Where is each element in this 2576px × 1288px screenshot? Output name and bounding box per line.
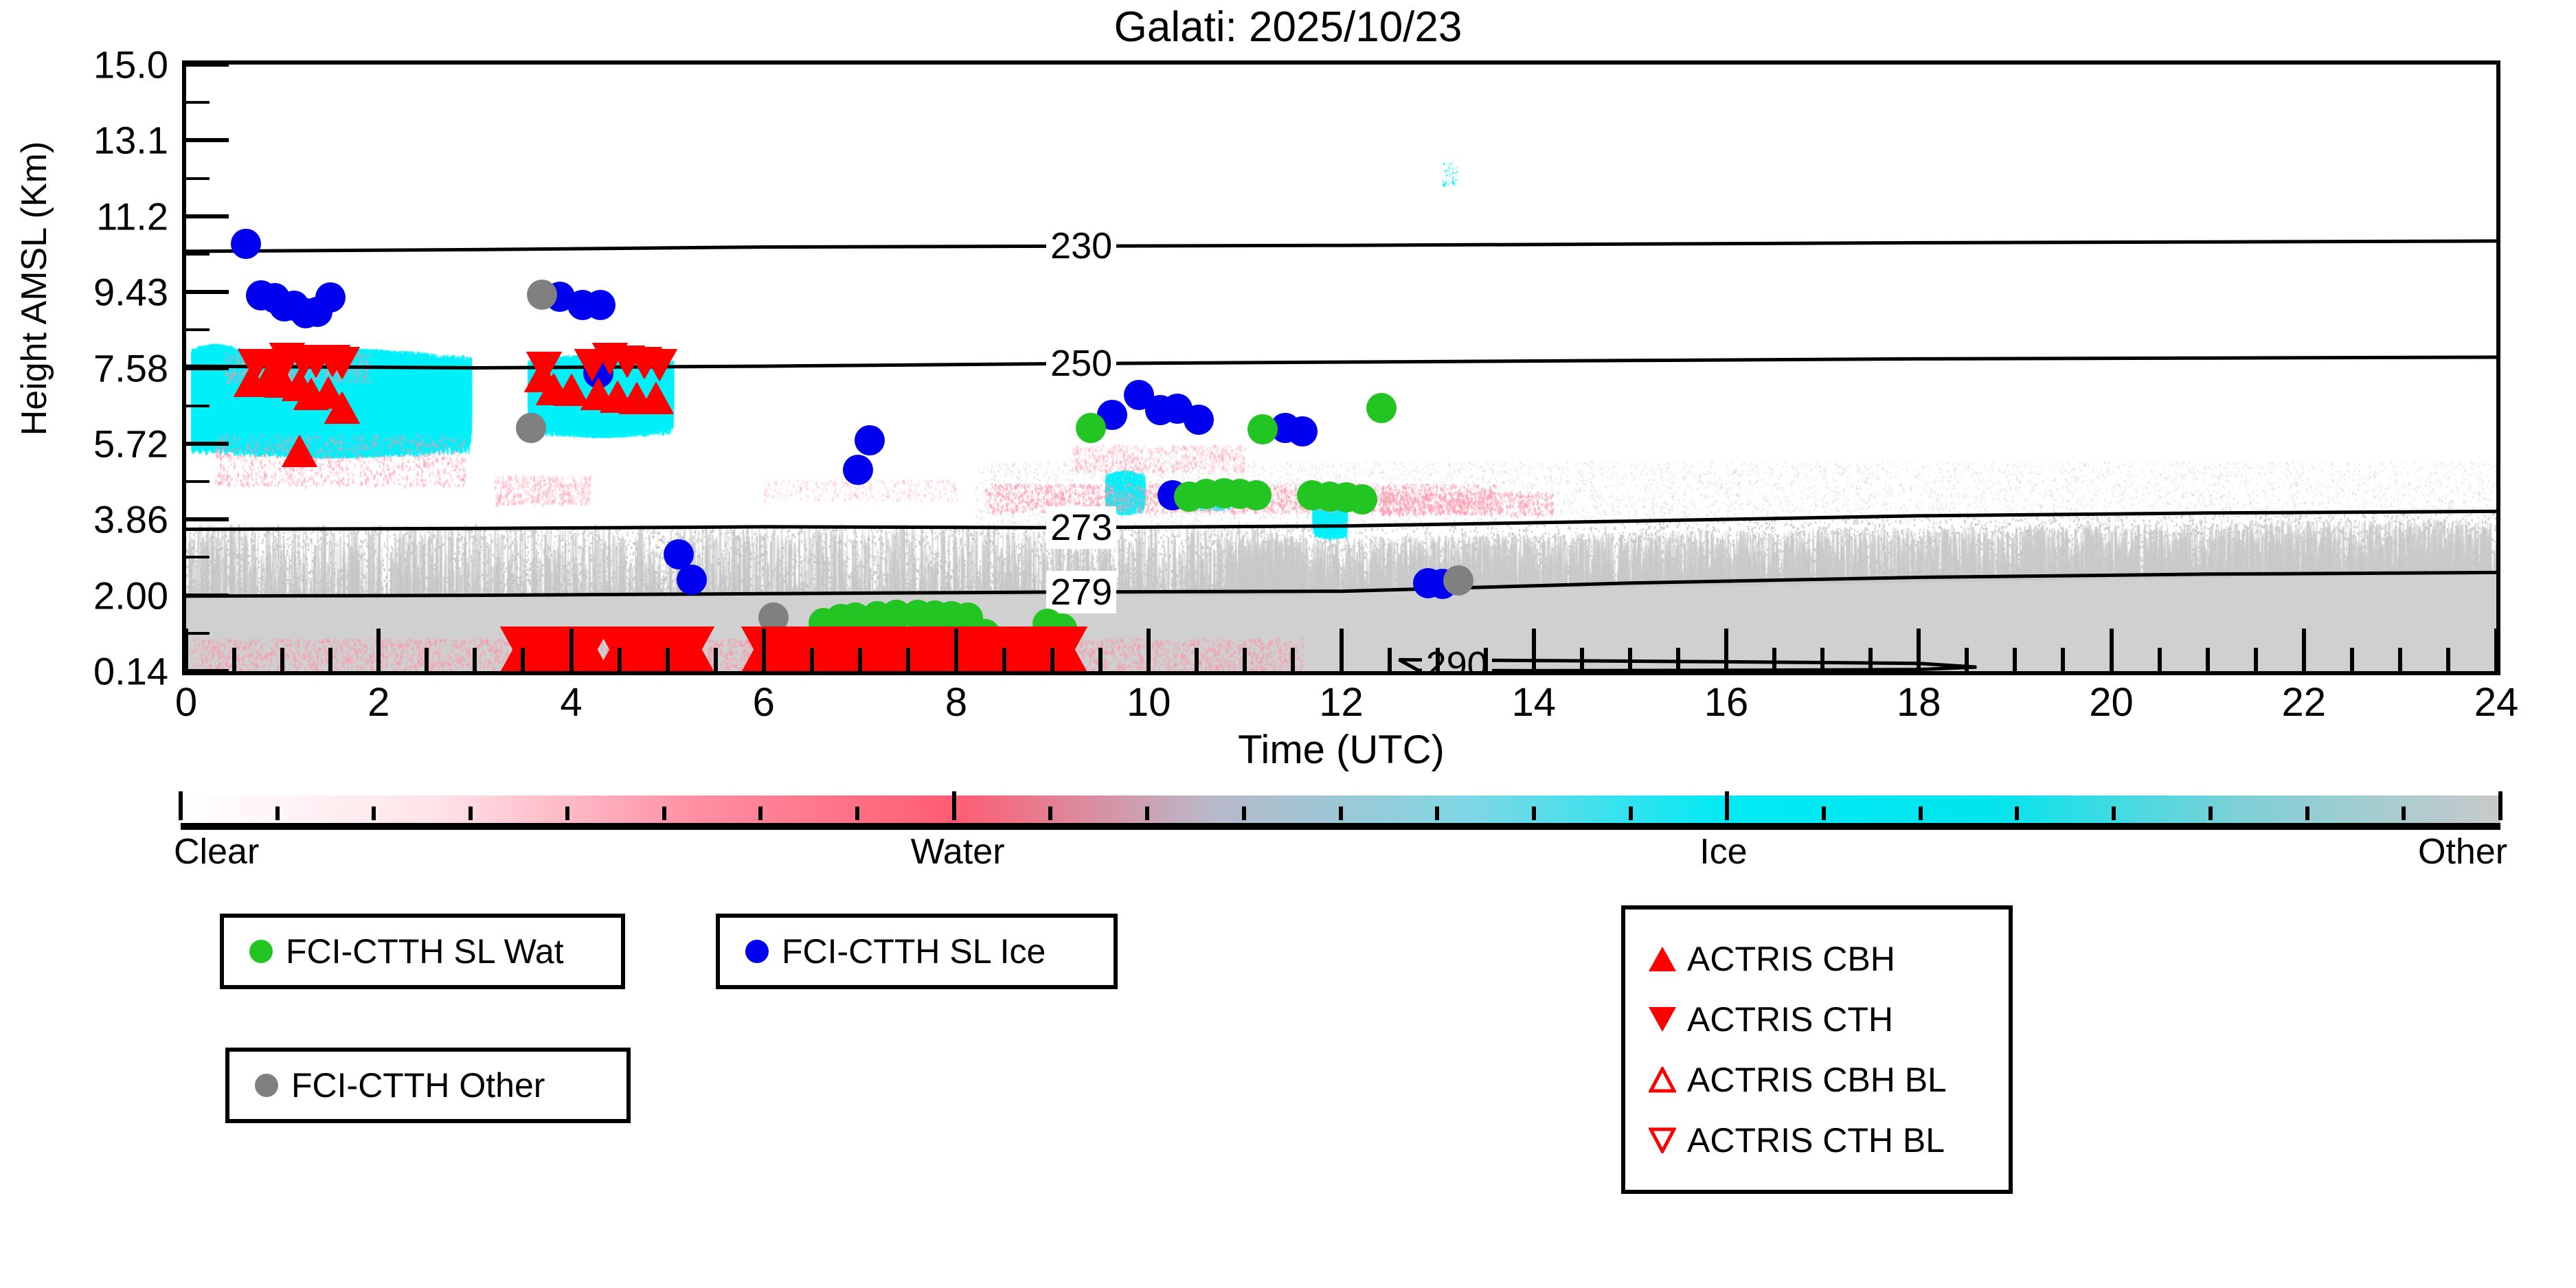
- triangle-up-filled-icon: [1643, 947, 1682, 971]
- x-tick-label: 22: [2235, 679, 2373, 725]
- x-tick-mark-minor: [1965, 648, 1969, 671]
- x-tick-mark-minor: [810, 648, 814, 671]
- colorbar-tick: [2498, 791, 2502, 820]
- fci-ctth-other-marker: [516, 413, 546, 443]
- legend-fci-ctth-sl-wat[interactable]: FCI-CTTH SL Wat: [220, 914, 625, 989]
- x-tick-label: 2: [310, 679, 447, 725]
- y-tick-mark: [186, 669, 229, 671]
- x-tick-mark: [1917, 629, 1921, 671]
- y-tick-mark: [186, 517, 229, 521]
- x-tick-mark-minor: [2013, 648, 2017, 671]
- x-tick-mark: [2302, 629, 2306, 671]
- fci-ctth-sl-ice-marker: [843, 455, 873, 485]
- y-tick-label: 9.43: [10, 270, 168, 315]
- isotherm-line-279: [186, 572, 2496, 596]
- x-tick-mark-minor: [280, 648, 284, 671]
- isotherm-label-230: 230: [1046, 225, 1116, 267]
- x-tick-mark-minor: [1002, 648, 1006, 671]
- x-tick-mark-minor: [1388, 648, 1392, 671]
- legend-label: ACTRIS CBH BL: [1687, 1060, 1947, 1100]
- fci-ctth-sl-wat-marker: [1347, 484, 1377, 515]
- x-tick-label: 6: [695, 679, 833, 725]
- colorbar-tick: [662, 806, 666, 820]
- x-tick-mark: [954, 629, 958, 671]
- x-tick-label: 18: [1850, 679, 1987, 725]
- colorbar-tick: [565, 806, 569, 820]
- legend-row-actris-cbh[interactable]: ACTRIS CBH: [1625, 929, 2009, 989]
- x-tick-mark-minor: [1050, 648, 1054, 671]
- blue-circle-icon: [738, 940, 776, 963]
- x-tick-mark-minor: [2158, 648, 2162, 671]
- colorbar-tick: [2402, 806, 2406, 820]
- cloud-height-timeseries-plot[interactable]: 230250273279290: [182, 60, 2500, 675]
- x-tick-mark-minor: [1868, 648, 1873, 671]
- legend-label: ACTRIS CBH: [1687, 939, 1895, 979]
- x-tick-mark-minor: [473, 648, 477, 671]
- y-tick-label: 3.86: [10, 497, 168, 542]
- x-tick-mark-minor: [425, 648, 429, 671]
- colorbar-axis: [181, 823, 2500, 830]
- fci-ctth-sl-wat-marker: [1076, 413, 1106, 443]
- x-tick-mark-minor: [232, 648, 236, 671]
- isotherm-label-250: 250: [1046, 342, 1116, 385]
- y-tick-mark: [186, 138, 229, 142]
- colorbar-tick: [952, 791, 956, 820]
- x-tick-mark: [569, 629, 574, 671]
- legend-label: FCI-CTTH Other: [291, 1065, 545, 1105]
- x-tick-mark: [1532, 629, 1536, 671]
- legend-row-actris-cth[interactable]: ACTRIS CTH: [1625, 989, 2009, 1050]
- fci-ctth-sl-ice-marker: [585, 290, 615, 320]
- x-tick-mark-minor: [328, 648, 332, 671]
- fci-ctth-sl-ice-marker: [1184, 405, 1214, 435]
- page-title: Galati: 2025/10/23: [0, 3, 2576, 52]
- x-tick-mark: [186, 629, 188, 671]
- y-tick-label: 7.58: [10, 346, 168, 390]
- legend-label: FCI-CTTH SL Ice: [782, 931, 1046, 971]
- colorbar-tick: [275, 806, 280, 820]
- fci-ctth-sl-ice-marker: [1287, 416, 1318, 447]
- actris-cbh-marker: [679, 640, 714, 671]
- x-tick-label: 20: [2043, 679, 2180, 725]
- x-tick-mark-minor: [618, 648, 622, 671]
- cloud-phase-colorbar[interactable]: ClearWaterIceOther: [181, 795, 2500, 827]
- legend-row[interactable]: FCI-CTTH Other: [229, 1055, 626, 1116]
- x-tick-label: 4: [503, 679, 640, 725]
- x-tick-mark-minor: [1628, 648, 1632, 671]
- x-tick-mark-minor: [1580, 648, 1584, 671]
- y-tick-mark: [186, 594, 229, 598]
- colorbar-tick: [179, 791, 183, 820]
- x-tick-mark-minor: [858, 648, 862, 671]
- y-tick-label: 15.0: [10, 43, 168, 87]
- y-tick-label: 2.00: [10, 573, 168, 618]
- x-tick-mark-minor: [1098, 648, 1103, 671]
- x-tick-mark-minor: [2446, 648, 2450, 671]
- x-tick-mark: [762, 629, 766, 671]
- colorbar-tick: [1725, 791, 1729, 820]
- x-tick-mark: [376, 629, 381, 671]
- colorbar-tick: [758, 806, 762, 820]
- x-tick-mark-minor: [1436, 648, 1440, 671]
- isotherm-label-273: 273: [1046, 506, 1116, 549]
- x-tick-mark: [1724, 629, 1728, 671]
- colorbar-tick: [468, 806, 473, 820]
- x-tick-mark-minor: [906, 648, 910, 671]
- isotherm-line-230: [186, 241, 2496, 251]
- x-tick-mark-minor: [2398, 648, 2402, 671]
- x-tick-label: 14: [1465, 679, 1603, 725]
- isotherm-label-279: 279: [1046, 571, 1116, 613]
- y-tick-mark: [186, 214, 229, 218]
- x-tick-mark-minor: [2350, 648, 2354, 671]
- y-tick-label: 5.72: [10, 421, 168, 466]
- triangle-down-open-icon: [1643, 1127, 1682, 1153]
- colorbar-tick: [1629, 806, 1633, 820]
- colorbar-tick: [372, 806, 376, 820]
- y-tick-mark-minor: [186, 480, 210, 483]
- actris-cbh-marker: [324, 392, 360, 428]
- x-tick-mark-minor: [1676, 648, 1680, 671]
- y-tick-mark-minor: [186, 253, 210, 256]
- legend-label: ACTRIS CTH BL: [1687, 1120, 1945, 1160]
- colorbar-tick: [2015, 806, 2019, 820]
- colorbar-tick: [2305, 806, 2309, 820]
- x-axis-label: Time (UTC): [182, 727, 2500, 773]
- fci-ctth-other-marker: [527, 280, 557, 310]
- x-tick-mark: [1340, 629, 1344, 671]
- colorbar-label-water: Water: [911, 831, 1005, 872]
- x-tick-mark-minor: [1291, 648, 1295, 671]
- x-tick-label: 12: [1273, 679, 1410, 725]
- x-tick-mark-minor: [714, 648, 718, 671]
- y-tick-mark-minor: [186, 177, 210, 180]
- legend-fci-ctth-sl-ice[interactable]: FCI-CTTH SL Ice: [716, 914, 1118, 989]
- x-tick-label: 16: [1658, 679, 1795, 725]
- legend-actris[interactable]: ACTRIS CBH ACTRIS CTH ACTRIS CBH BL ACTR…: [1621, 905, 2013, 1194]
- actris-cbh-marker: [1052, 640, 1087, 671]
- x-tick-label: 0: [117, 679, 255, 725]
- legend-label: ACTRIS CTH: [1687, 999, 1893, 1039]
- colorbar-tick: [1435, 806, 1439, 820]
- x-tick-mark-minor: [1820, 648, 1824, 671]
- x-tick-mark-minor: [2254, 648, 2258, 671]
- x-tick-mark-minor: [1484, 648, 1488, 671]
- x-tick-mark-minor: [1243, 648, 1247, 671]
- colorbar-tick: [1919, 806, 1923, 820]
- legend-row[interactable]: FCI-CTTH SL Wat: [224, 921, 621, 982]
- isotherm-label-290: 290: [1422, 644, 1492, 672]
- y-tick-mark-minor: [186, 556, 210, 558]
- fci-ctth-sl-ice-marker: [231, 229, 261, 259]
- colorbar-tick: [1339, 806, 1343, 820]
- colorbar-tick: [1532, 806, 1536, 820]
- legend-row[interactable]: FCI-CTTH SL Ice: [720, 921, 1114, 982]
- y-tick-label: 13.1: [10, 118, 168, 163]
- colorbar-tick: [1242, 806, 1246, 820]
- x-tick-label: 8: [888, 679, 1025, 725]
- x-tick-mark-minor: [1195, 648, 1199, 671]
- fci-ctth-sl-wat-marker: [1241, 480, 1272, 510]
- y-tick-mark: [186, 366, 229, 370]
- x-tick-mark-minor: [2061, 648, 2065, 671]
- y-tick-mark: [186, 442, 229, 446]
- colorbar-label-other: Other: [2418, 831, 2507, 872]
- x-tick-mark-minor: [2206, 648, 2210, 671]
- colorbar-tick: [2112, 806, 2116, 820]
- triangle-down-filled-icon: [1643, 1007, 1682, 1032]
- actris-cth-marker: [642, 348, 677, 385]
- fci-ctth-other-marker: [1443, 565, 1473, 596]
- fci-ctth-sl-wat-marker: [1366, 393, 1397, 423]
- y-tick-mark: [186, 290, 229, 294]
- colorbar-tick: [1822, 806, 1826, 820]
- fci-ctth-sl-ice-marker: [677, 565, 707, 595]
- plot-clip: 230250273279290: [186, 65, 2496, 671]
- x-tick-mark: [1146, 629, 1151, 671]
- y-tick-mark-minor: [186, 101, 210, 104]
- actris-cbh-marker: [282, 436, 317, 472]
- legend-row-actris-cth-bl[interactable]: ACTRIS CTH BL: [1625, 1110, 2009, 1171]
- legend-label: FCI-CTTH SL Wat: [286, 931, 564, 971]
- x-tick-mark-minor: [1772, 648, 1776, 671]
- legend-row-actris-cbh-bl[interactable]: ACTRIS CBH BL: [1625, 1050, 2009, 1110]
- y-tick-label: 11.2: [10, 194, 168, 238]
- fci-ctth-sl-ice-marker: [315, 282, 346, 313]
- colorbar-label-ice: Ice: [1699, 831, 1747, 872]
- gray-circle-icon: [247, 1074, 286, 1097]
- green-circle-icon: [242, 940, 280, 963]
- x-tick-mark: [2494, 629, 2496, 671]
- y-tick-mark: [186, 65, 229, 67]
- colorbar-tick: [1145, 806, 1149, 820]
- x-tick-label: 10: [1080, 679, 1217, 725]
- y-tick-mark-minor: [186, 632, 210, 635]
- y-tick-mark-minor: [186, 328, 210, 331]
- x-tick-mark: [2110, 629, 2114, 671]
- colorbar-label-clear: Clear: [174, 831, 259, 872]
- actris-cbh-marker: [638, 382, 674, 418]
- y-tick-mark-minor: [186, 405, 210, 407]
- x-tick-mark-minor: [666, 648, 670, 671]
- isotherm-line-273: [186, 511, 2496, 529]
- triangle-up-open-icon: [1643, 1067, 1682, 1093]
- colorbar-tick: [1048, 806, 1052, 820]
- colorbar-tick: [855, 806, 859, 820]
- legend-fci-ctth-other[interactable]: FCI-CTTH Other: [225, 1048, 631, 1123]
- colorbar-tick: [2208, 806, 2213, 820]
- x-tick-mark-minor: [521, 648, 525, 671]
- x-tick-label: 24: [2428, 679, 2565, 725]
- fci-ctth-sl-wat-marker: [1247, 414, 1278, 444]
- fci-ctth-sl-ice-marker: [855, 425, 885, 455]
